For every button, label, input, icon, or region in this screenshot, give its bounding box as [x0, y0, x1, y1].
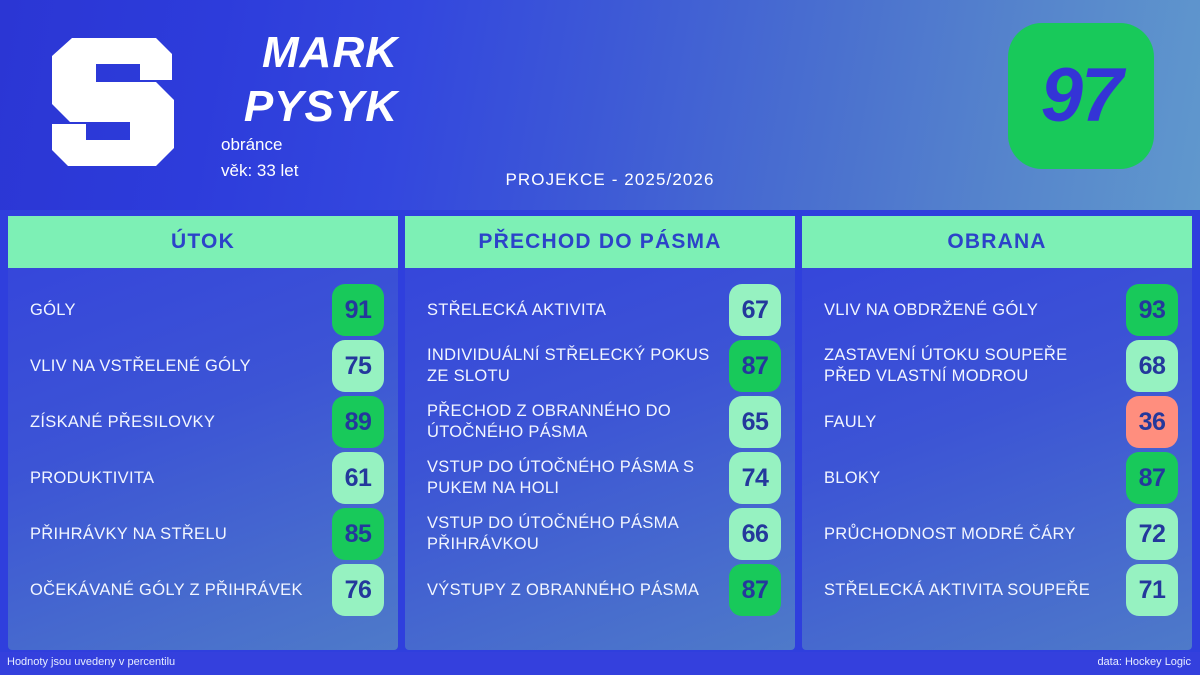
stat-row: BLOKY87 [802, 450, 1192, 506]
stat-row: ZÍSKANÉ PŘESILOVKY89 [8, 394, 398, 450]
overall-rating-value: 97 [1041, 58, 1122, 134]
stat-value: 89 [345, 408, 372, 437]
stat-panel-prechod: PŘECHOD DO PÁSMA STŘELECKÁ AKTIVITA67IND… [405, 216, 795, 650]
stat-value: 75 [345, 352, 372, 381]
infographic-canvas: MARK PYSYK obránce věk: 33 let PROJEKCE … [0, 0, 1200, 675]
stat-value: 65 [742, 408, 769, 437]
panel-header-utok: ÚTOK [8, 216, 398, 268]
player-header: MARK PYSYK obránce věk: 33 let PROJEKCE … [0, 0, 1200, 210]
stat-badge: 93 [1126, 284, 1178, 336]
stat-badge: 87 [729, 340, 781, 392]
stat-badge: 67 [729, 284, 781, 336]
player-meta: obránce věk: 33 let [221, 132, 299, 184]
stat-label: INDIVIDUÁLNÍ STŘELECKÝ POKUS ZE SLOTU [427, 345, 713, 387]
footer: Hodnoty jsou uvedeny v percentilu data: … [0, 652, 1200, 675]
stat-row: FAULY36 [802, 394, 1192, 450]
stat-badge: 36 [1126, 396, 1178, 448]
stat-label: PŘIHRÁVKY NA STŘELU [30, 524, 316, 545]
stat-row: GÓLY91 [8, 282, 398, 338]
stat-value: 36 [1139, 408, 1166, 437]
projection-label: PROJEKCE - 2025/2026 [430, 170, 790, 190]
stat-row: PRŮCHODNOST MODRÉ ČÁRY72 [802, 506, 1192, 562]
stat-badge: 74 [729, 452, 781, 504]
stat-label: ZÍSKANÉ PŘESILOVKY [30, 412, 316, 433]
stat-label: PŘECHOD Z OBRANNÉHO DO ÚTOČNÉHO PÁSMA [427, 401, 713, 443]
stat-label: OČEKÁVANÉ GÓLY Z PŘIHRÁVEK [30, 580, 316, 601]
stat-badge: 61 [332, 452, 384, 504]
stat-rows-obrana: VLIV NA OBDRŽENÉ GÓLY93ZASTAVENÍ ÚTOKU S… [802, 282, 1192, 618]
panel-title: PŘECHOD DO PÁSMA [478, 230, 721, 254]
stat-label: FAULY [824, 412, 1110, 433]
stat-rows-utok: GÓLY91VLIV NA VSTŘELENÉ GÓLY75ZÍSKANÉ PŘ… [8, 282, 398, 618]
stat-row: OČEKÁVANÉ GÓLY Z PŘIHRÁVEK76 [8, 562, 398, 618]
stat-label: BLOKY [824, 468, 1110, 489]
stat-value: 85 [345, 520, 372, 549]
player-position: obránce [221, 132, 299, 158]
stat-badge: 68 [1126, 340, 1178, 392]
stat-row: VSTUP DO ÚTOČNÉHO PÁSMA PŘIHRÁVKOU66 [405, 506, 795, 562]
stat-badge: 75 [332, 340, 384, 392]
stat-badge: 89 [332, 396, 384, 448]
stat-badge: 66 [729, 508, 781, 560]
stat-row: ZASTAVENÍ ÚTOKU SOUPEŘE PŘED VLASTNÍ MOD… [802, 338, 1192, 394]
player-name: MARK PYSYK [218, 26, 398, 134]
panel-header-prechod: PŘECHOD DO PÁSMA [405, 216, 795, 268]
stat-value: 87 [742, 576, 769, 605]
overall-rating-badge: 97 [1008, 23, 1154, 169]
stat-label: STŘELECKÁ AKTIVITA SOUPEŘE [824, 580, 1110, 601]
stat-badge: 71 [1126, 564, 1178, 616]
stat-label: VSTUP DO ÚTOČNÉHO PÁSMA PŘIHRÁVKOU [427, 513, 713, 555]
panel-title: OBRANA [947, 230, 1046, 254]
stat-value: 91 [345, 296, 372, 325]
stat-row: PŘECHOD Z OBRANNÉHO DO ÚTOČNÉHO PÁSMA65 [405, 394, 795, 450]
panel-title: ÚTOK [171, 230, 235, 254]
stat-row: STŘELECKÁ AKTIVITA67 [405, 282, 795, 338]
footer-source: data: Hockey Logic [1097, 656, 1191, 668]
stat-value: 68 [1139, 352, 1166, 381]
stat-row: VÝSTUPY Z OBRANNÉHO PÁSMA87 [405, 562, 795, 618]
team-s-logo-icon [44, 24, 180, 176]
stat-badge: 65 [729, 396, 781, 448]
stat-panel-utok: ÚTOK GÓLY91VLIV NA VSTŘELENÉ GÓLY75ZÍSKA… [8, 216, 398, 650]
stat-value: 87 [742, 352, 769, 381]
stat-value: 93 [1139, 296, 1166, 325]
stat-row: INDIVIDUÁLNÍ STŘELECKÝ POKUS ZE SLOTU87 [405, 338, 795, 394]
player-age: věk: 33 let [221, 158, 299, 184]
stat-label: VÝSTUPY Z OBRANNÉHO PÁSMA [427, 580, 713, 601]
player-last-name: PYSYK [218, 80, 398, 134]
stat-badge: 76 [332, 564, 384, 616]
stat-label: ZASTAVENÍ ÚTOKU SOUPEŘE PŘED VLASTNÍ MOD… [824, 345, 1110, 387]
stat-label: PRODUKTIVITA [30, 468, 316, 489]
stat-row: VLIV NA OBDRŽENÉ GÓLY93 [802, 282, 1192, 338]
stat-row: VLIV NA VSTŘELENÉ GÓLY75 [8, 338, 398, 394]
stat-label: STŘELECKÁ AKTIVITA [427, 300, 713, 321]
stat-label: VSTUP DO ÚTOČNÉHO PÁSMA S PUKEM NA HOLI [427, 457, 713, 499]
stat-value: 87 [1139, 464, 1166, 493]
stat-badge: 87 [729, 564, 781, 616]
stat-badge: 85 [332, 508, 384, 560]
stat-panel-obrana: OBRANA VLIV NA OBDRŽENÉ GÓLY93ZASTAVENÍ … [802, 216, 1192, 650]
stat-badge: 87 [1126, 452, 1178, 504]
stat-value: 74 [742, 464, 769, 493]
stat-value: 76 [345, 576, 372, 605]
stat-row: VSTUP DO ÚTOČNÉHO PÁSMA S PUKEM NA HOLI7… [405, 450, 795, 506]
panel-header-obrana: OBRANA [802, 216, 1192, 268]
stat-label: VLIV NA OBDRŽENÉ GÓLY [824, 300, 1110, 321]
stat-value: 71 [1139, 576, 1166, 605]
stat-badge: 91 [332, 284, 384, 336]
stat-badge: 72 [1126, 508, 1178, 560]
stat-value: 66 [742, 520, 769, 549]
stat-row: PŘIHRÁVKY NA STŘELU85 [8, 506, 398, 562]
stat-rows-prechod: STŘELECKÁ AKTIVITA67INDIVIDUÁLNÍ STŘELEC… [405, 282, 795, 618]
stat-value: 72 [1139, 520, 1166, 549]
stat-label: GÓLY [30, 300, 316, 321]
stat-value: 61 [345, 464, 372, 493]
stat-label: VLIV NA VSTŘELENÉ GÓLY [30, 356, 316, 377]
footer-note: Hodnoty jsou uvedeny v percentilu [7, 656, 175, 668]
stat-row: STŘELECKÁ AKTIVITA SOUPEŘE71 [802, 562, 1192, 618]
stat-value: 67 [742, 296, 769, 325]
player-first-name: MARK [218, 26, 398, 80]
stat-label: PRŮCHODNOST MODRÉ ČÁRY [824, 524, 1110, 545]
stat-row: PRODUKTIVITA61 [8, 450, 398, 506]
